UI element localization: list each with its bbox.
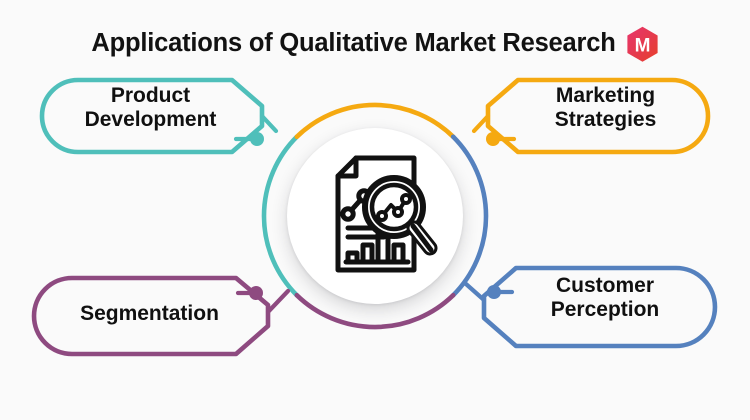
connector-line-customer-perception bbox=[466, 284, 484, 300]
node-shape-customer-perception bbox=[484, 268, 715, 346]
node-product-development[interactable] bbox=[42, 80, 276, 152]
node-shape-marketing-strategies bbox=[488, 80, 708, 152]
document-analytics-magnifier-icon bbox=[310, 152, 440, 282]
node-segmentation[interactable] bbox=[34, 278, 288, 354]
node-customer-perception[interactable] bbox=[466, 268, 715, 346]
infographic-canvas: Applications of Qualitative Market Resea… bbox=[0, 0, 750, 420]
connector-line-segmentation bbox=[268, 291, 288, 312]
node-shape-segmentation bbox=[34, 278, 268, 354]
node-shape-product-development bbox=[42, 80, 262, 152]
node-marketing-strategies[interactable] bbox=[474, 80, 708, 152]
